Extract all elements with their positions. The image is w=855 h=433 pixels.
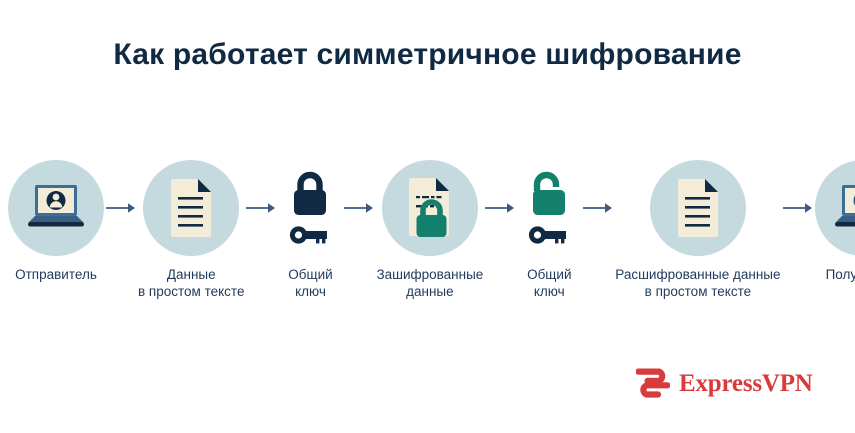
infographic-canvas: Как работает симметричное шифрование <box>0 0 855 433</box>
arrow-right-icon <box>342 160 376 256</box>
page-title: Как работает симметричное шифрование <box>0 38 855 72</box>
flow-step-label: Отправитель <box>15 266 97 283</box>
flow-step-label: Общий ключ <box>527 266 571 300</box>
expressvpn-logo: ExpressVPN <box>636 366 813 400</box>
flow-step-label: Общий ключ <box>288 266 332 300</box>
icon-slot-decrypted-data <box>650 160 746 256</box>
flow-step-decrypted-data: Расшифрованные данные в простом тексте <box>615 160 780 300</box>
document-locked-icon <box>405 176 455 240</box>
expressvpn-logo-text: ExpressVPN <box>679 371 813 396</box>
document-icon <box>167 177 215 239</box>
icon-slot-shared-key-lock <box>278 160 342 256</box>
arrow-right-icon <box>581 160 615 256</box>
document-icon <box>674 177 722 239</box>
padlock-open-key-icon <box>521 165 577 251</box>
laptop-user-icon <box>832 182 855 234</box>
icon-slot-shared-key-unlock <box>517 160 581 256</box>
flow-step-label: Зашифрованные данные <box>376 266 483 300</box>
arrow-right-icon <box>104 160 138 256</box>
expressvpn-logo-mark <box>636 366 670 400</box>
flow-step-label: Получатель <box>826 266 855 283</box>
padlock-closed-key-icon <box>282 165 338 251</box>
circle-background <box>143 160 239 256</box>
laptop-user-icon <box>25 182 87 234</box>
circle-background <box>382 160 478 256</box>
icon-slot-sender <box>8 160 104 256</box>
flow-step-encrypted-data: Зашифрованные данные <box>376 160 483 300</box>
flow-step-label: Расшифрованные данные в простом тексте <box>615 266 780 300</box>
circle-background <box>650 160 746 256</box>
arrow-right-icon <box>483 160 517 256</box>
encryption-flow: Отправитель <box>8 160 847 300</box>
circle-background <box>8 160 104 256</box>
arrow-right-icon <box>244 160 278 256</box>
icon-slot-plaintext-data <box>143 160 239 256</box>
flow-step-shared-key-lock: Общий ключ <box>278 160 342 300</box>
flow-step-receiver: Получатель <box>815 160 855 283</box>
flow-step-sender: Отправитель <box>8 160 104 283</box>
flow-step-label: Данные в простом тексте <box>138 266 244 300</box>
icon-slot-encrypted-data <box>382 160 478 256</box>
flow-step-shared-key-unlock: Общий ключ <box>517 160 581 300</box>
circle-background <box>815 160 855 256</box>
icon-slot-receiver <box>815 160 855 256</box>
arrow-right-icon <box>781 160 815 256</box>
flow-step-plaintext-data: Данные в простом тексте <box>138 160 244 300</box>
